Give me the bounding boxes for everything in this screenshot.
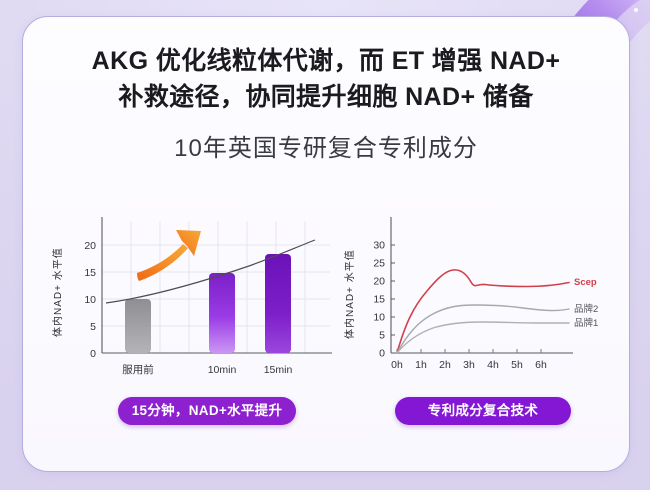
charts-row: 体内NAD+ 水平值 [23,213,629,388]
svg-text:15min: 15min [264,364,293,376]
series-line-scep [397,270,569,353]
svg-text:15: 15 [373,294,385,306]
svg-text:服用前: 服用前 [122,363,154,376]
svg-text:10: 10 [84,294,96,306]
left-chart-y-ticks: 0 5 10 15 20 [84,240,96,360]
svg-text:4h: 4h [487,359,499,371]
svg-text:0: 0 [379,348,385,360]
svg-text:10min: 10min [208,364,237,376]
svg-text:25: 25 [373,258,385,270]
right-chart-y-ticks: 0 5 10 15 20 25 30 [373,240,385,360]
svg-text:6h: 6h [535,359,547,371]
legend-label-scep: Scep [574,277,597,288]
caption-pill-left[interactable]: 15分钟，NAD+水平提升 [118,397,296,425]
left-chart-y-axis-title: 体内NAD+ 水平值 [51,247,64,337]
svg-text:15: 15 [84,267,96,279]
caption-pill-right[interactable]: 专利成分复合技术 [395,397,571,425]
legend-label-brand1: 品牌1 [574,317,598,329]
caption-pills: 15分钟，NAD+水平提升 专利成分复合技术 [23,397,629,431]
series-line-brand2 [397,305,569,353]
page-subtitle: 10年英国专研复合专利成分 [23,128,629,163]
svg-text:20: 20 [373,276,385,288]
svg-text:30: 30 [373,240,385,252]
slide-canvas: AKG 优化线粒体代谢，而 ET 增强 NAD+ 补救途径，协同提升细胞 NAD… [0,0,650,490]
left-bar-chart: 体内NAD+ 水平值 [49,213,335,388]
heading-block: AKG 优化线粒体代谢，而 ET 增强 NAD+ 补救途径，协同提升细胞 NAD… [23,43,629,163]
svg-text:20: 20 [84,240,96,252]
right-chart-x-ticks: 0h 1h 2h 3h 4h 5h 6h [391,359,547,371]
bar-before [125,299,151,353]
svg-text:0: 0 [90,348,96,360]
svg-text:5: 5 [379,330,385,342]
content-card: AKG 优化线粒体代谢，而 ET 增强 NAD+ 补救途径，协同提升细胞 NAD… [22,16,630,472]
svg-text:10: 10 [373,312,385,324]
legend-label-brand2: 品牌2 [574,303,598,315]
left-chart-x-ticks: 服用前 10min 15min [122,363,292,376]
svg-text:5h: 5h [511,359,523,371]
headline-line-1: AKG 优化线粒体代谢，而 ET 增强 NAD+ [23,43,629,79]
series-line-brand1 [397,322,569,353]
upward-trend-arrow-icon [137,230,201,281]
headline-line-2: 补救途径，协同提升细胞 NAD+ 储备 [23,79,629,115]
right-chart-y-axis-title: 体内NAD+ 水平值 [343,249,356,339]
svg-text:1h: 1h [415,359,427,371]
right-line-chart: 体内NAD+ 水平值 0 5 10 15 20 25 30 [341,213,623,388]
svg-text:5: 5 [90,321,96,333]
svg-text:0h: 0h [391,359,403,371]
svg-text:2h: 2h [439,359,451,371]
bar-15min [265,254,291,353]
svg-text:3h: 3h [463,359,475,371]
bar-10min [209,273,235,353]
